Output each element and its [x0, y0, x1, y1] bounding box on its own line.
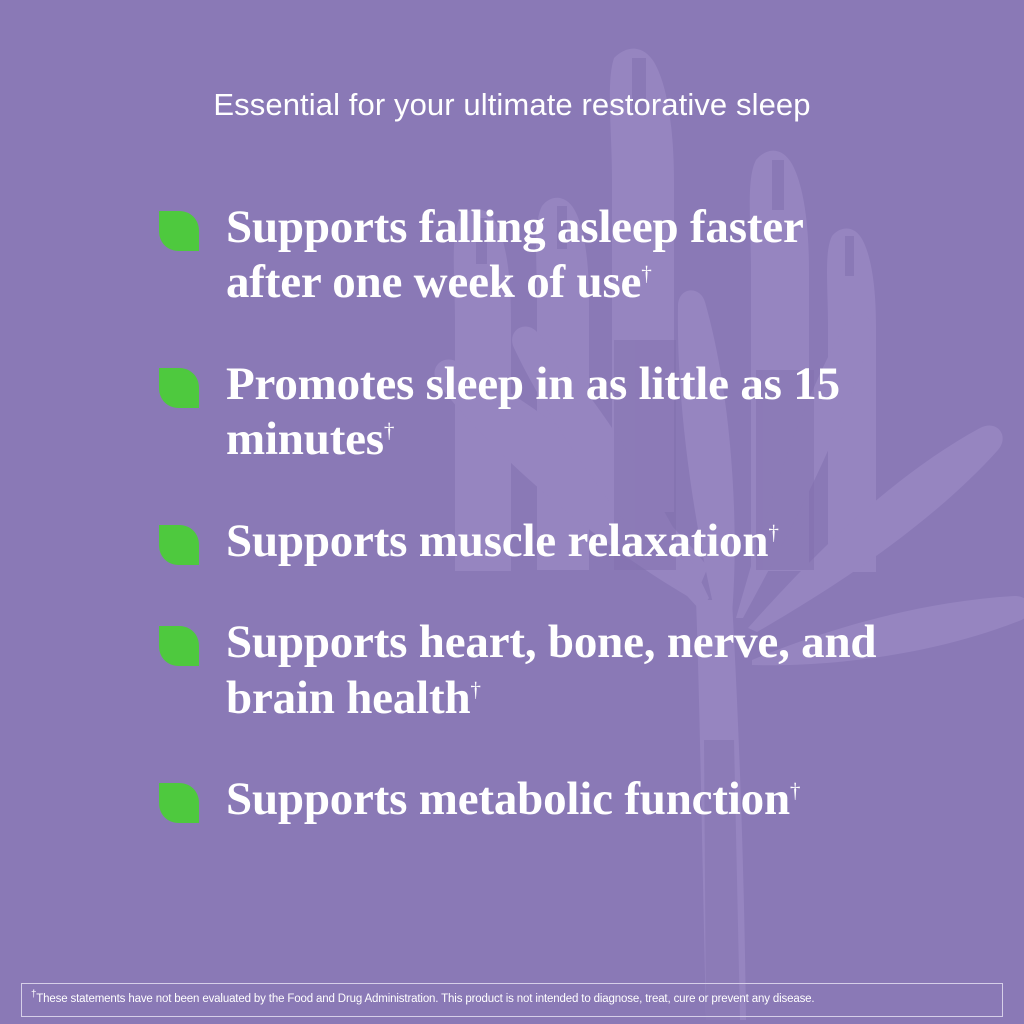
list-item: Supports metabolic function† [158, 772, 958, 827]
leaf-icon [158, 782, 200, 824]
benefit-label: Supports heart, bone, nerve, and brain h… [226, 616, 876, 723]
footnote-marker: † [768, 520, 778, 544]
footnote-marker: † [384, 419, 394, 443]
list-item: Supports heart, bone, nerve, and brain h… [158, 615, 958, 726]
list-item: Supports falling asleep faster after one… [158, 200, 958, 311]
benefits-card: Essential for your ultimate restorative … [0, 0, 1024, 1024]
footnote-marker: † [470, 677, 480, 701]
benefit-text: Supports metabolic function† [226, 772, 886, 827]
list-item: Promotes sleep in as little as 15 minute… [158, 357, 958, 468]
footnote-marker: † [790, 779, 800, 803]
benefit-text: Supports falling asleep faster after one… [226, 200, 886, 311]
benefit-label: Supports muscle relaxation [226, 515, 768, 567]
benefit-text: Promotes sleep in as little as 15 minute… [226, 357, 886, 468]
benefit-text: Supports muscle relaxation† [226, 514, 886, 569]
benefit-label: Supports falling asleep faster after one… [226, 201, 803, 308]
footnote-marker: † [641, 262, 651, 286]
list-item: Supports muscle relaxation† [158, 514, 958, 569]
leaf-icon [158, 367, 200, 409]
leaf-icon [158, 210, 200, 252]
disclaimer-box: †These statements have not been evaluate… [21, 983, 1003, 1017]
leaf-icon [158, 625, 200, 667]
benefit-label: Promotes sleep in as little as 15 minute… [226, 358, 840, 465]
benefit-text: Supports heart, bone, nerve, and brain h… [226, 615, 886, 726]
disclaimer-text: †These statements have not been evaluate… [22, 993, 814, 1007]
benefits-list: Supports falling asleep faster after one… [158, 200, 958, 828]
disclaimer-label: These statements have not been evaluated… [36, 993, 814, 1005]
leaf-icon [158, 524, 200, 566]
page-title: Essential for your ultimate restorative … [0, 86, 1024, 123]
benefit-label: Supports metabolic function [226, 773, 790, 825]
